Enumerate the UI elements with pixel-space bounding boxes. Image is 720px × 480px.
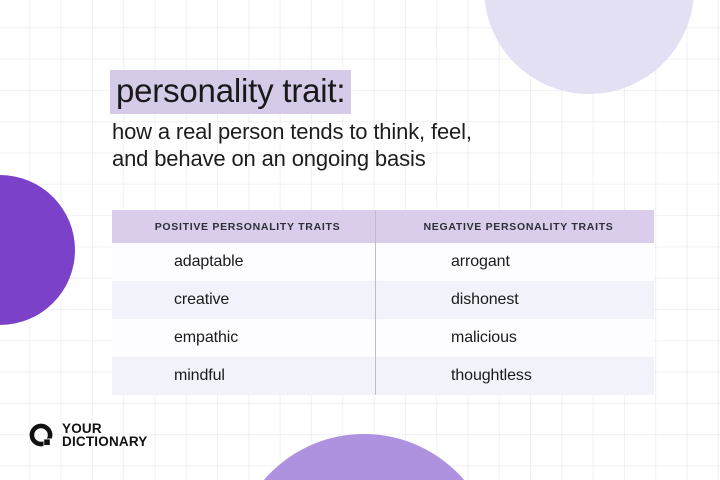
brand-logo-line-2: DICTIONARY	[62, 435, 148, 448]
definition-line-2: and behave on an ongoing basis	[112, 145, 572, 172]
infographic-canvas: personality trait: how a real person ten…	[0, 0, 720, 480]
table-row: empathic malicious	[112, 319, 654, 357]
page-title: personality trait:	[110, 70, 351, 114]
column-header-positive: POSITIVE PERSONALITY TRAITS	[112, 210, 383, 243]
trait-negative: thoughtless	[383, 357, 654, 395]
trait-positive: empathic	[112, 319, 383, 357]
trait-negative: arrogant	[383, 243, 654, 281]
trait-negative: malicious	[383, 319, 654, 357]
column-header-negative: NEGATIVE PERSONALITY TRAITS	[383, 210, 654, 243]
content-layer: personality trait: how a real person ten…	[0, 0, 720, 480]
definition-text: how a real person tends to think, feel, …	[112, 118, 572, 172]
table-row: adaptable arrogant	[112, 243, 654, 281]
traits-table: POSITIVE PERSONALITY TRAITS NEGATIVE PER…	[112, 210, 654, 395]
trait-positive: adaptable	[112, 243, 383, 281]
table-row: creative dishonest	[112, 281, 654, 319]
brand-logo: YOUR DICTIONARY	[28, 422, 148, 448]
table-header-row: POSITIVE PERSONALITY TRAITS NEGATIVE PER…	[112, 210, 654, 243]
definition-line-1: how a real person tends to think, feel,	[112, 118, 572, 145]
column-divider	[375, 210, 376, 395]
broken-circle-mark-icon	[28, 422, 54, 448]
trait-positive: mindful	[112, 357, 383, 395]
table-row: mindful thoughtless	[112, 357, 654, 395]
trait-negative: dishonest	[383, 281, 654, 319]
trait-positive: creative	[112, 281, 383, 319]
brand-logo-text: YOUR DICTIONARY	[62, 422, 148, 448]
title-container: personality trait:	[110, 70, 351, 114]
table-body: adaptable arrogant creative dishonest em…	[112, 243, 654, 395]
